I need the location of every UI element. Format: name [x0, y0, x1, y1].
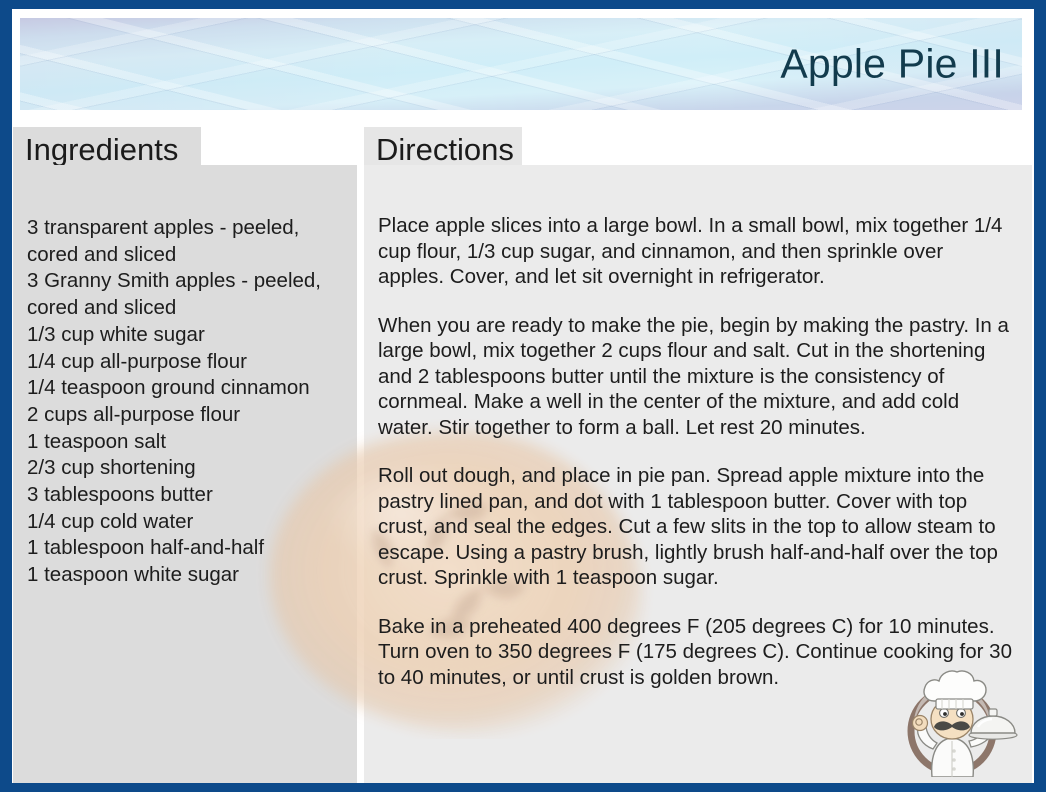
- list-item: 1 teaspoon white sugar: [27, 562, 343, 589]
- list-item: 3 Granny Smith apples - peeled, cored an…: [27, 268, 343, 321]
- direction-paragraph: When you are ready to make the pie, begi…: [378, 313, 1014, 441]
- list-item: 3 tablespoons butter: [27, 482, 343, 509]
- direction-paragraph: Bake in a preheated 400 degrees F (205 d…: [378, 614, 1014, 691]
- ingredients-heading: Ingredients: [13, 132, 178, 168]
- direction-paragraph: Place apple slices into a large bowl. In…: [378, 213, 1014, 290]
- list-item: 1/4 cup cold water: [27, 509, 343, 536]
- list-item: 2 cups all-purpose flour: [27, 402, 343, 429]
- recipe-card: Apple Pie III: [0, 0, 1046, 792]
- list-item: 3 transparent apples - peeled, cored and…: [27, 215, 343, 268]
- list-item: 2/3 cup shortening: [27, 455, 343, 482]
- ingredients-list: 3 transparent apples - peeled, cored and…: [13, 165, 357, 589]
- directions-heading: Directions: [364, 132, 514, 168]
- ingredients-panel: Ingredients 3 transparent apples - peele…: [13, 127, 357, 783]
- ingredients-panel-body: 3 transparent apples - peeled, cored and…: [13, 165, 357, 783]
- list-item: 1/4 teaspoon ground cinnamon: [27, 375, 343, 402]
- list-item: 1/3 cup white sugar: [27, 322, 343, 349]
- list-item: 1 teaspoon salt: [27, 429, 343, 456]
- page-title: Apple Pie III: [780, 41, 1004, 88]
- list-item: 1/4 cup all-purpose flour: [27, 349, 343, 376]
- page-surface: Apple Pie III: [12, 9, 1034, 783]
- directions-panel-body: Place apple slices into a large bowl. In…: [364, 165, 1032, 783]
- directions-text: Place apple slices into a large bowl. In…: [364, 165, 1032, 690]
- list-item: 1 tablespoon half-and-half: [27, 535, 343, 562]
- header-banner: Apple Pie III: [20, 18, 1022, 110]
- directions-panel: Directions Place apple slices into a lar…: [364, 127, 1032, 783]
- direction-paragraph: Roll out dough, and place in pie pan. Sp…: [378, 463, 1014, 591]
